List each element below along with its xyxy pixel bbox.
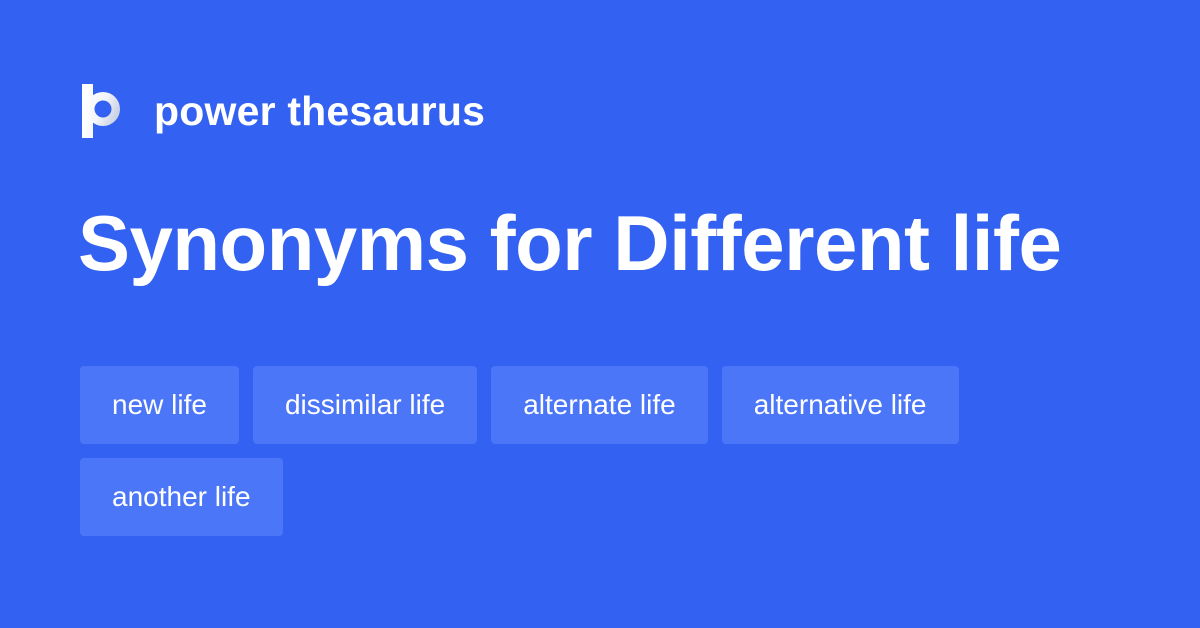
page-title: Synonyms for Different life (78, 196, 1061, 290)
synonym-chip-list: new life dissimilar life alternate life … (80, 366, 1130, 536)
synonym-chip[interactable]: new life (80, 366, 239, 444)
synonym-chip[interactable]: alternate life (491, 366, 708, 444)
synonym-chip[interactable]: dissimilar life (253, 366, 477, 444)
brand-name: power thesaurus (154, 91, 485, 132)
synonym-chip[interactable]: another life (80, 458, 283, 536)
page-root: power thesaurus Synonyms for Different l… (0, 0, 1200, 628)
power-thesaurus-b-logo-icon (80, 84, 128, 138)
synonym-chip[interactable]: alternative life (722, 366, 959, 444)
brand-logo[interactable]: power thesaurus (80, 82, 485, 140)
